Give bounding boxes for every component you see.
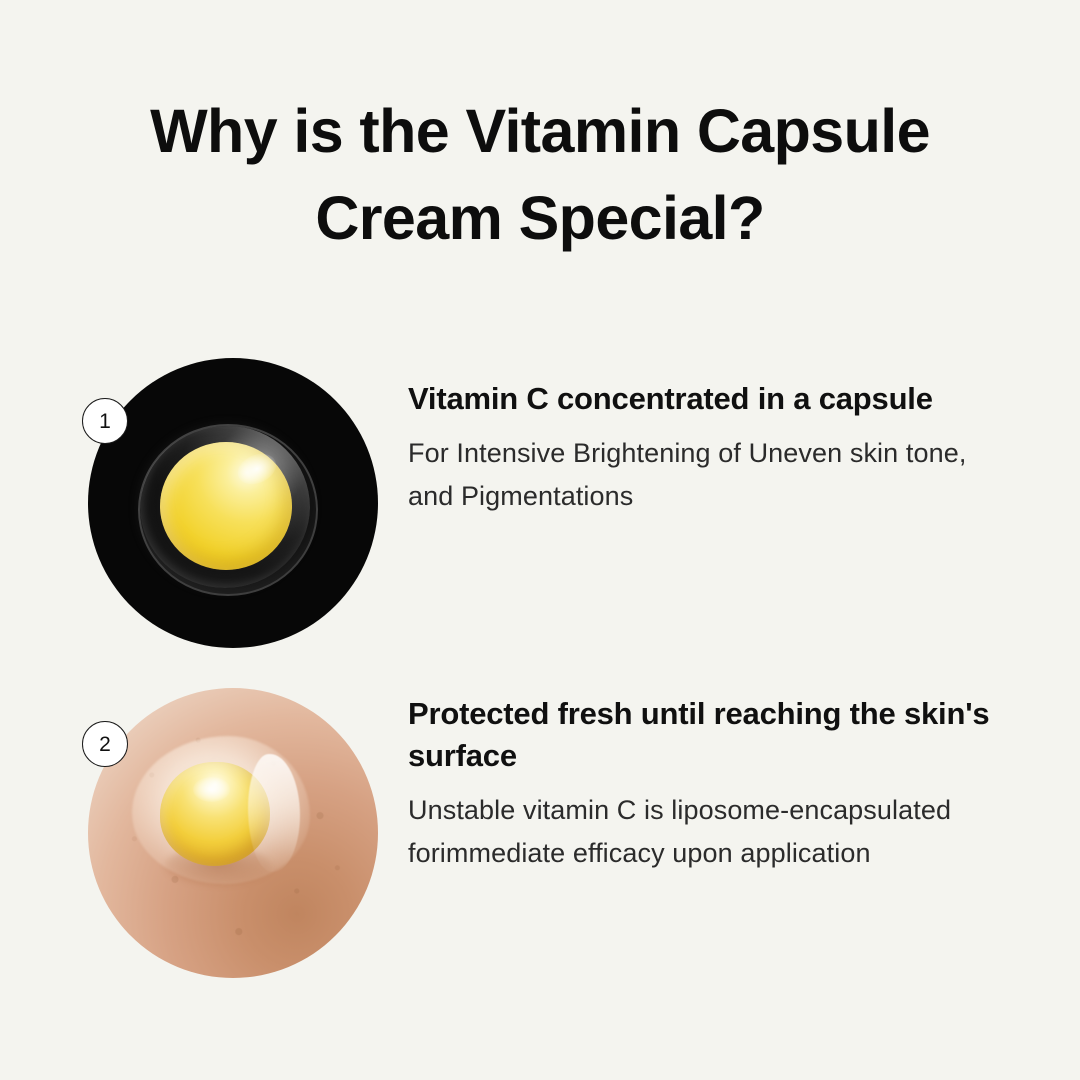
step-badge-1: 1 <box>82 398 128 444</box>
page-title-line-1: Why is the Vitamin Capsule <box>60 88 1020 175</box>
feature-title-1: Vitamin C concentrated in a capsule <box>408 378 1008 420</box>
feature-description-1: For Intensive Brightening of Uneven skin… <box>408 432 1008 517</box>
vitamin-capsule-core <box>160 442 292 570</box>
feature-text-2: Protected fresh until reaching the skin'… <box>408 693 1008 875</box>
page-title: Why is the Vitamin Capsule Cream Special… <box>60 88 1020 261</box>
feature-image-capsule-skin <box>88 688 378 978</box>
feature-image-capsule-black <box>88 358 378 648</box>
page-title-line-2: Cream Special? <box>60 175 1020 262</box>
feature-description-2: Unstable vitamin C is liposome-encapsula… <box>408 789 1008 874</box>
feature-text-1: Vitamin C concentrated in a capsule For … <box>408 378 1008 517</box>
infographic-page: Why is the Vitamin Capsule Cream Special… <box>0 0 1080 1080</box>
step-badge-2: 2 <box>82 721 128 767</box>
feature-title-2: Protected fresh until reaching the skin'… <box>408 693 1008 777</box>
